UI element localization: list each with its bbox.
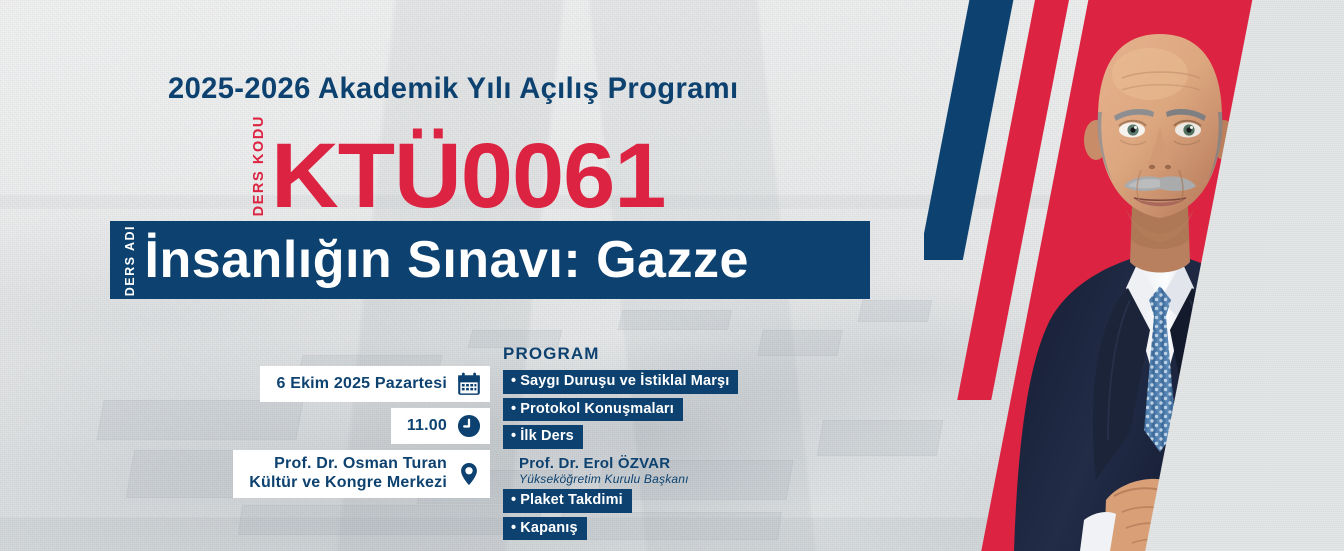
program-item-label: Plaket Takdimi xyxy=(520,492,623,508)
bullet-icon: • xyxy=(511,373,516,389)
event-venue-box: Prof. Dr. Osman Turan Kültür ve Kongre M… xyxy=(233,450,490,498)
program-speaker-name: Prof. Dr. Erol ÖZVAR xyxy=(519,455,803,472)
program-item-label: Kapanış xyxy=(520,520,577,536)
course-code-value: KTÜ0061 xyxy=(271,137,665,216)
event-info-stack: 6 Ekim 2025 Pazartesi xyxy=(160,366,490,504)
program-item: •Plaket Takdimi xyxy=(503,489,632,513)
event-venue-text: Prof. Dr. Osman Turan Kültür ve Kongre M… xyxy=(249,455,447,493)
event-date-text: 6 Ekim 2025 Pazartesi xyxy=(276,375,447,394)
program-block: PROGRAM •Saygı Duruşu ve İstiklal Marşı … xyxy=(503,344,803,544)
program-row: •İlk Ders Prof. Dr. Erol ÖZVAR Yükseköğr… xyxy=(503,425,803,489)
bullet-icon: • xyxy=(511,492,516,508)
event-venue-line2: Kültür ve Kongre Merkezi xyxy=(249,474,447,491)
poster-content: 2025-2026 Akademik Yılı Açılış Programı … xyxy=(0,0,1000,551)
event-time-text: 11.00 xyxy=(407,417,447,436)
course-name-label: DERS ADI xyxy=(124,223,137,296)
program-item-label: Protokol Konuşmaları xyxy=(520,401,674,417)
program-item: •İlk Ders xyxy=(503,425,583,449)
course-code-label: DERS KODU xyxy=(252,112,267,216)
clock-icon xyxy=(456,413,482,439)
event-date-box: 6 Ekim 2025 Pazartesi xyxy=(260,366,490,402)
program-item: •Protokol Konuşmaları xyxy=(503,398,683,422)
program-title: PROGRAM xyxy=(503,344,803,364)
poster-stage: 2025-2026 Akademik Yılı Açılış Programı … xyxy=(0,0,1344,551)
program-item-label: Saygı Duruşu ve İstiklal Marşı xyxy=(520,373,729,389)
program-item-label: İlk Ders xyxy=(520,428,574,444)
calendar-icon xyxy=(456,371,482,397)
program-item-detail: Prof. Dr. Erol ÖZVAR Yükseköğretim Kurul… xyxy=(503,453,803,490)
academic-year-kicker: 2025-2026 Akademik Yılı Açılış Programı xyxy=(168,72,738,106)
event-venue-line1: Prof. Dr. Osman Turan xyxy=(274,455,447,472)
program-row: •Kapanış xyxy=(503,517,803,545)
location-pin-icon xyxy=(456,461,482,487)
event-date-row: 6 Ekim 2025 Pazartesi xyxy=(160,366,490,402)
bullet-icon: • xyxy=(511,520,516,536)
bullet-icon: • xyxy=(511,401,516,417)
course-name-bar: DERS ADI İnsanlığın Sınavı: Gazze xyxy=(110,221,870,299)
program-item: •Kapanış xyxy=(503,517,587,541)
program-row: •Plaket Takdimi xyxy=(503,489,803,517)
course-name-value: İnsanlığın Sınavı: Gazze xyxy=(145,234,749,286)
event-time-box: 11.00 xyxy=(391,408,490,444)
bullet-icon: • xyxy=(511,428,516,444)
program-speaker-role: Yükseköğretim Kurulu Başkanı xyxy=(519,472,803,486)
program-item: •Saygı Duruşu ve İstiklal Marşı xyxy=(503,370,738,394)
program-row: •Protokol Konuşmaları xyxy=(503,398,803,426)
course-code-row: DERS KODU KTÜ0061 xyxy=(252,112,657,216)
program-row: •Saygı Duruşu ve İstiklal Marşı xyxy=(503,370,803,398)
event-time-row: 11.00 xyxy=(160,408,490,444)
event-venue-row: Prof. Dr. Osman Turan Kültür ve Kongre M… xyxy=(160,450,490,498)
